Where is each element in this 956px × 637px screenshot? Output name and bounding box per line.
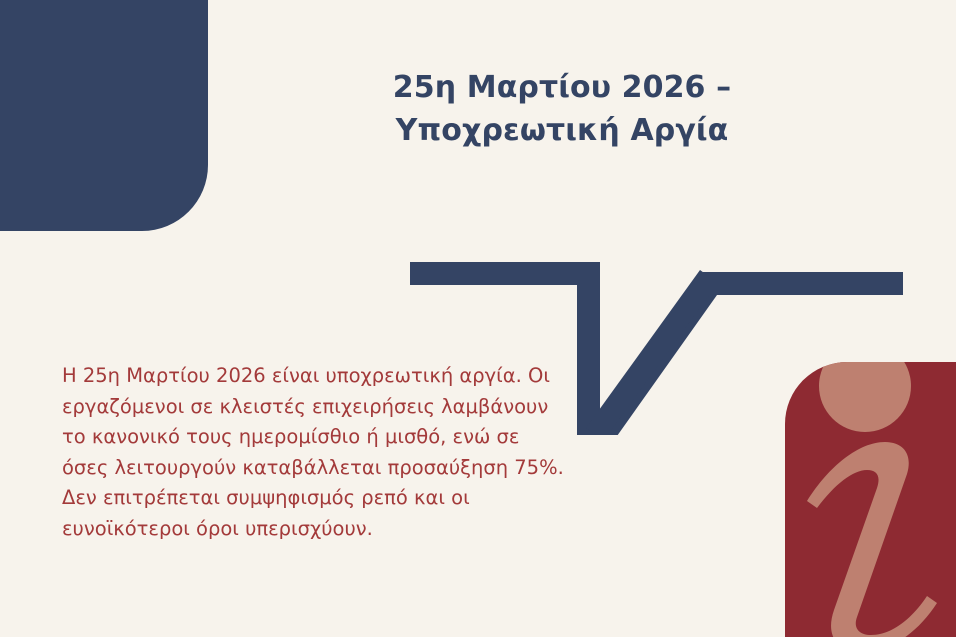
body-line-2: εργαζόμενοι σε κλειστές επιχειρήσεις λαμ… (62, 392, 592, 423)
info-emblem (785, 362, 956, 637)
zigzag-left-bar (410, 262, 600, 285)
info-i-dot-icon (819, 362, 911, 432)
body-line-3: το κανονικό τους ημερομίσθιο ή μισθό, εν… (62, 422, 592, 453)
title-line-1: 25η Μαρτίου 2026 – (292, 66, 832, 109)
body-line-6: ευνοϊκότεροι όροι υπερισχύουν. (62, 514, 592, 545)
info-i-stem-icon (807, 442, 937, 637)
body-line-1: Η 25η Μαρτίου 2026 είναι υποχρεωτική αργ… (62, 361, 592, 392)
body-line-5: Δεν επιτρέπεται συμψηφισμός ρεπό και οι (62, 483, 592, 514)
page-title: 25η Μαρτίου 2026 – Υποχρεωτική Αργία (292, 66, 832, 152)
body-line-4: όσες λειτουργούν καταβάλλεται προσαύξηση… (62, 453, 592, 484)
zigzag-diagonal-bar (586, 270, 718, 435)
title-line-2: Υποχρεωτική Αργία (292, 109, 832, 152)
navy-corner-block (0, 0, 208, 231)
zigzag-right-bar (703, 272, 903, 295)
infographic-card: 25η Μαρτίου 2026 – Υποχρεωτική Αργία Η 2… (0, 0, 956, 637)
body-paragraph: Η 25η Μαρτίου 2026 είναι υποχρεωτική αργ… (62, 361, 592, 544)
